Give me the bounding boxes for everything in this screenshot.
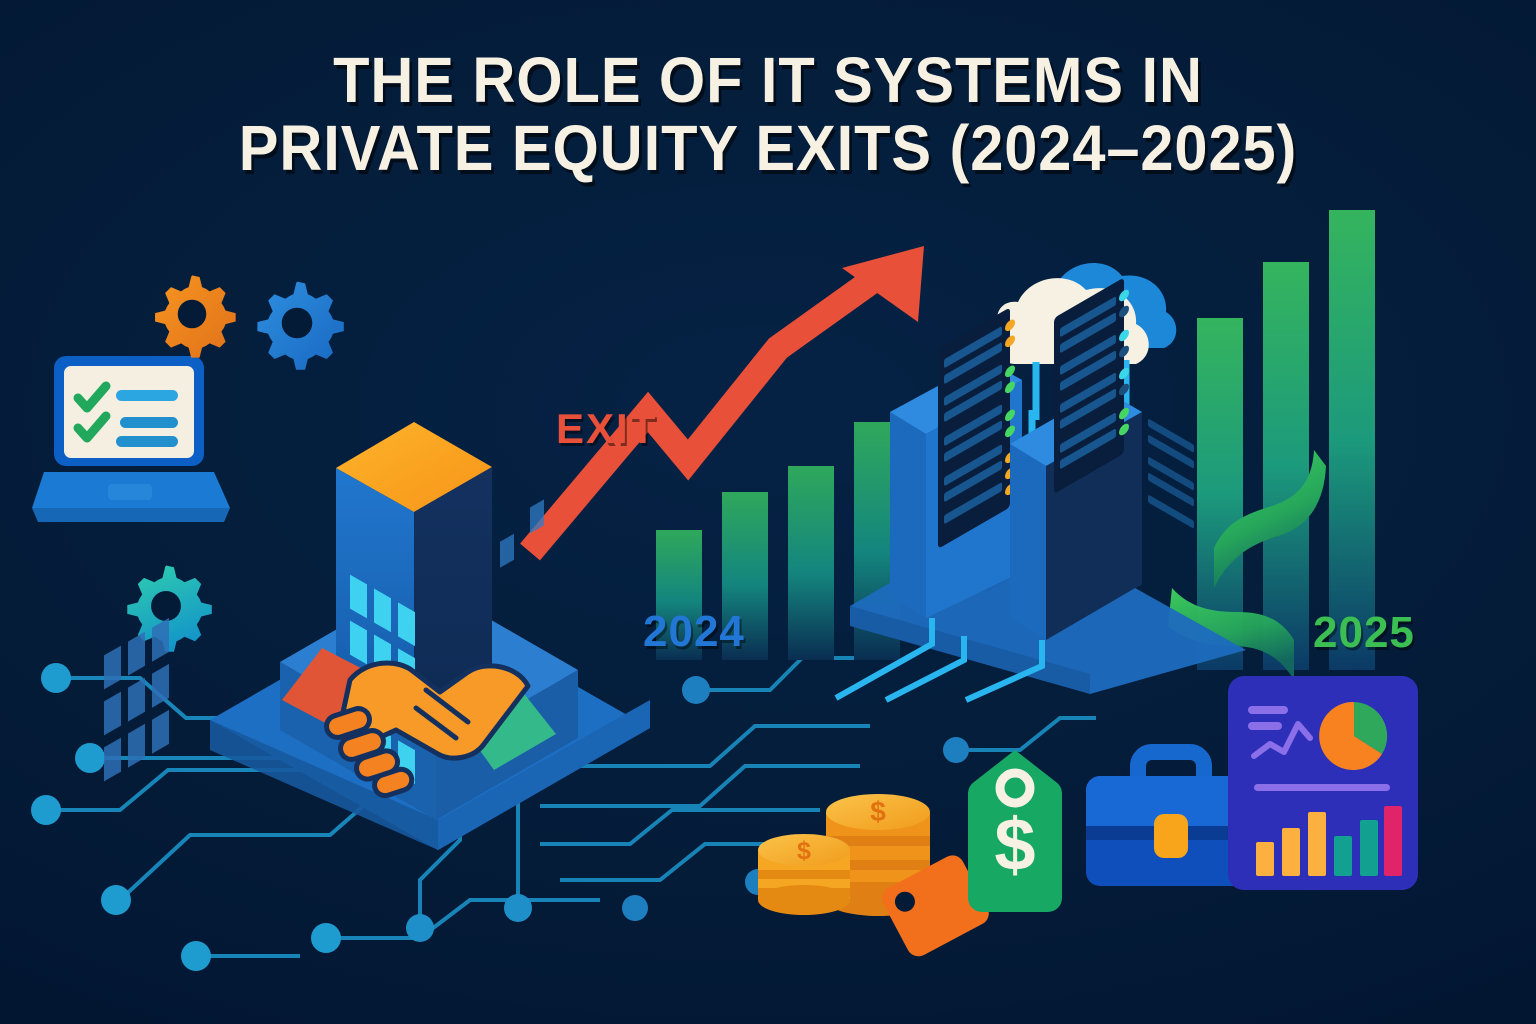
price-tag-green-icon: $ <box>960 748 1070 916</box>
year-label-2024: 2024 <box>643 607 745 657</box>
svg-text:$: $ <box>797 837 811 865</box>
coin-dollar-symbol: $ <box>870 796 886 827</box>
checklist-line-1 <box>116 390 178 401</box>
infographic-canvas: $ $ $ <box>0 0 1536 1024</box>
checklist-line-3 <box>116 436 178 447</box>
title-line-2: PRIVATE EQUITY EXITS (2024–2025) <box>54 114 1482 182</box>
panel-pie-chart <box>1319 702 1387 770</box>
title-line-1: THE ROLE OF IT SYSTEMS IN <box>54 46 1482 114</box>
checklist-line-2 <box>120 417 178 428</box>
page-title: THE ROLE OF IT SYSTEMS IN PRIVATE EQUITY… <box>0 46 1536 182</box>
panel-header-line-2 <box>1248 722 1282 730</box>
server-rack-icon <box>846 360 1266 700</box>
coin-stack-short: $ <box>758 834 850 915</box>
panel-divider <box>1254 784 1390 791</box>
briefcase-handle <box>1138 752 1204 776</box>
panel-header-line-1 <box>1248 706 1288 714</box>
briefcase-clasp <box>1154 814 1188 858</box>
exit-label: EXIT <box>556 405 657 453</box>
tag-dollar-symbol: $ <box>994 803 1035 886</box>
analytics-dashboard-panel <box>1228 676 1418 890</box>
year-label-2025: 2025 <box>1313 608 1415 658</box>
laptop-trackpad <box>108 484 152 500</box>
